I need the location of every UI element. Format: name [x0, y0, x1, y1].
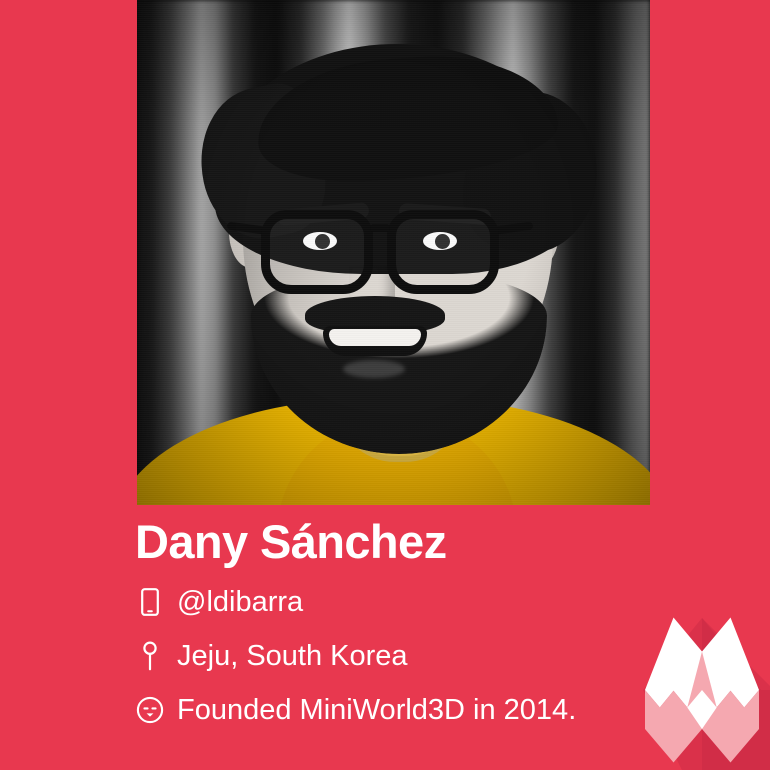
profile-row-location: Jeju, South Korea	[135, 640, 408, 672]
profile-location-text: Jeju, South Korea	[177, 642, 408, 671]
profile-row-handle: @ldibarra	[135, 586, 303, 618]
location-pin-icon	[135, 640, 165, 672]
profile-name: Dany Sánchez	[135, 518, 446, 565]
profile-bio-text: Founded MiniWorld3D in 2014.	[177, 696, 576, 725]
profile-handle-text: @ldibarra	[177, 588, 303, 617]
profile-photo	[137, 0, 650, 505]
smiley-face-icon	[135, 694, 165, 726]
miniworld3d-logo	[643, 617, 761, 763]
profile-card: Dany Sánchez @ldibarra Jeju, South Korea	[0, 0, 770, 770]
profile-row-bio: Founded MiniWorld3D in 2014.	[135, 694, 576, 726]
mobile-phone-icon	[135, 586, 165, 618]
photo-vignette	[137, 0, 650, 505]
